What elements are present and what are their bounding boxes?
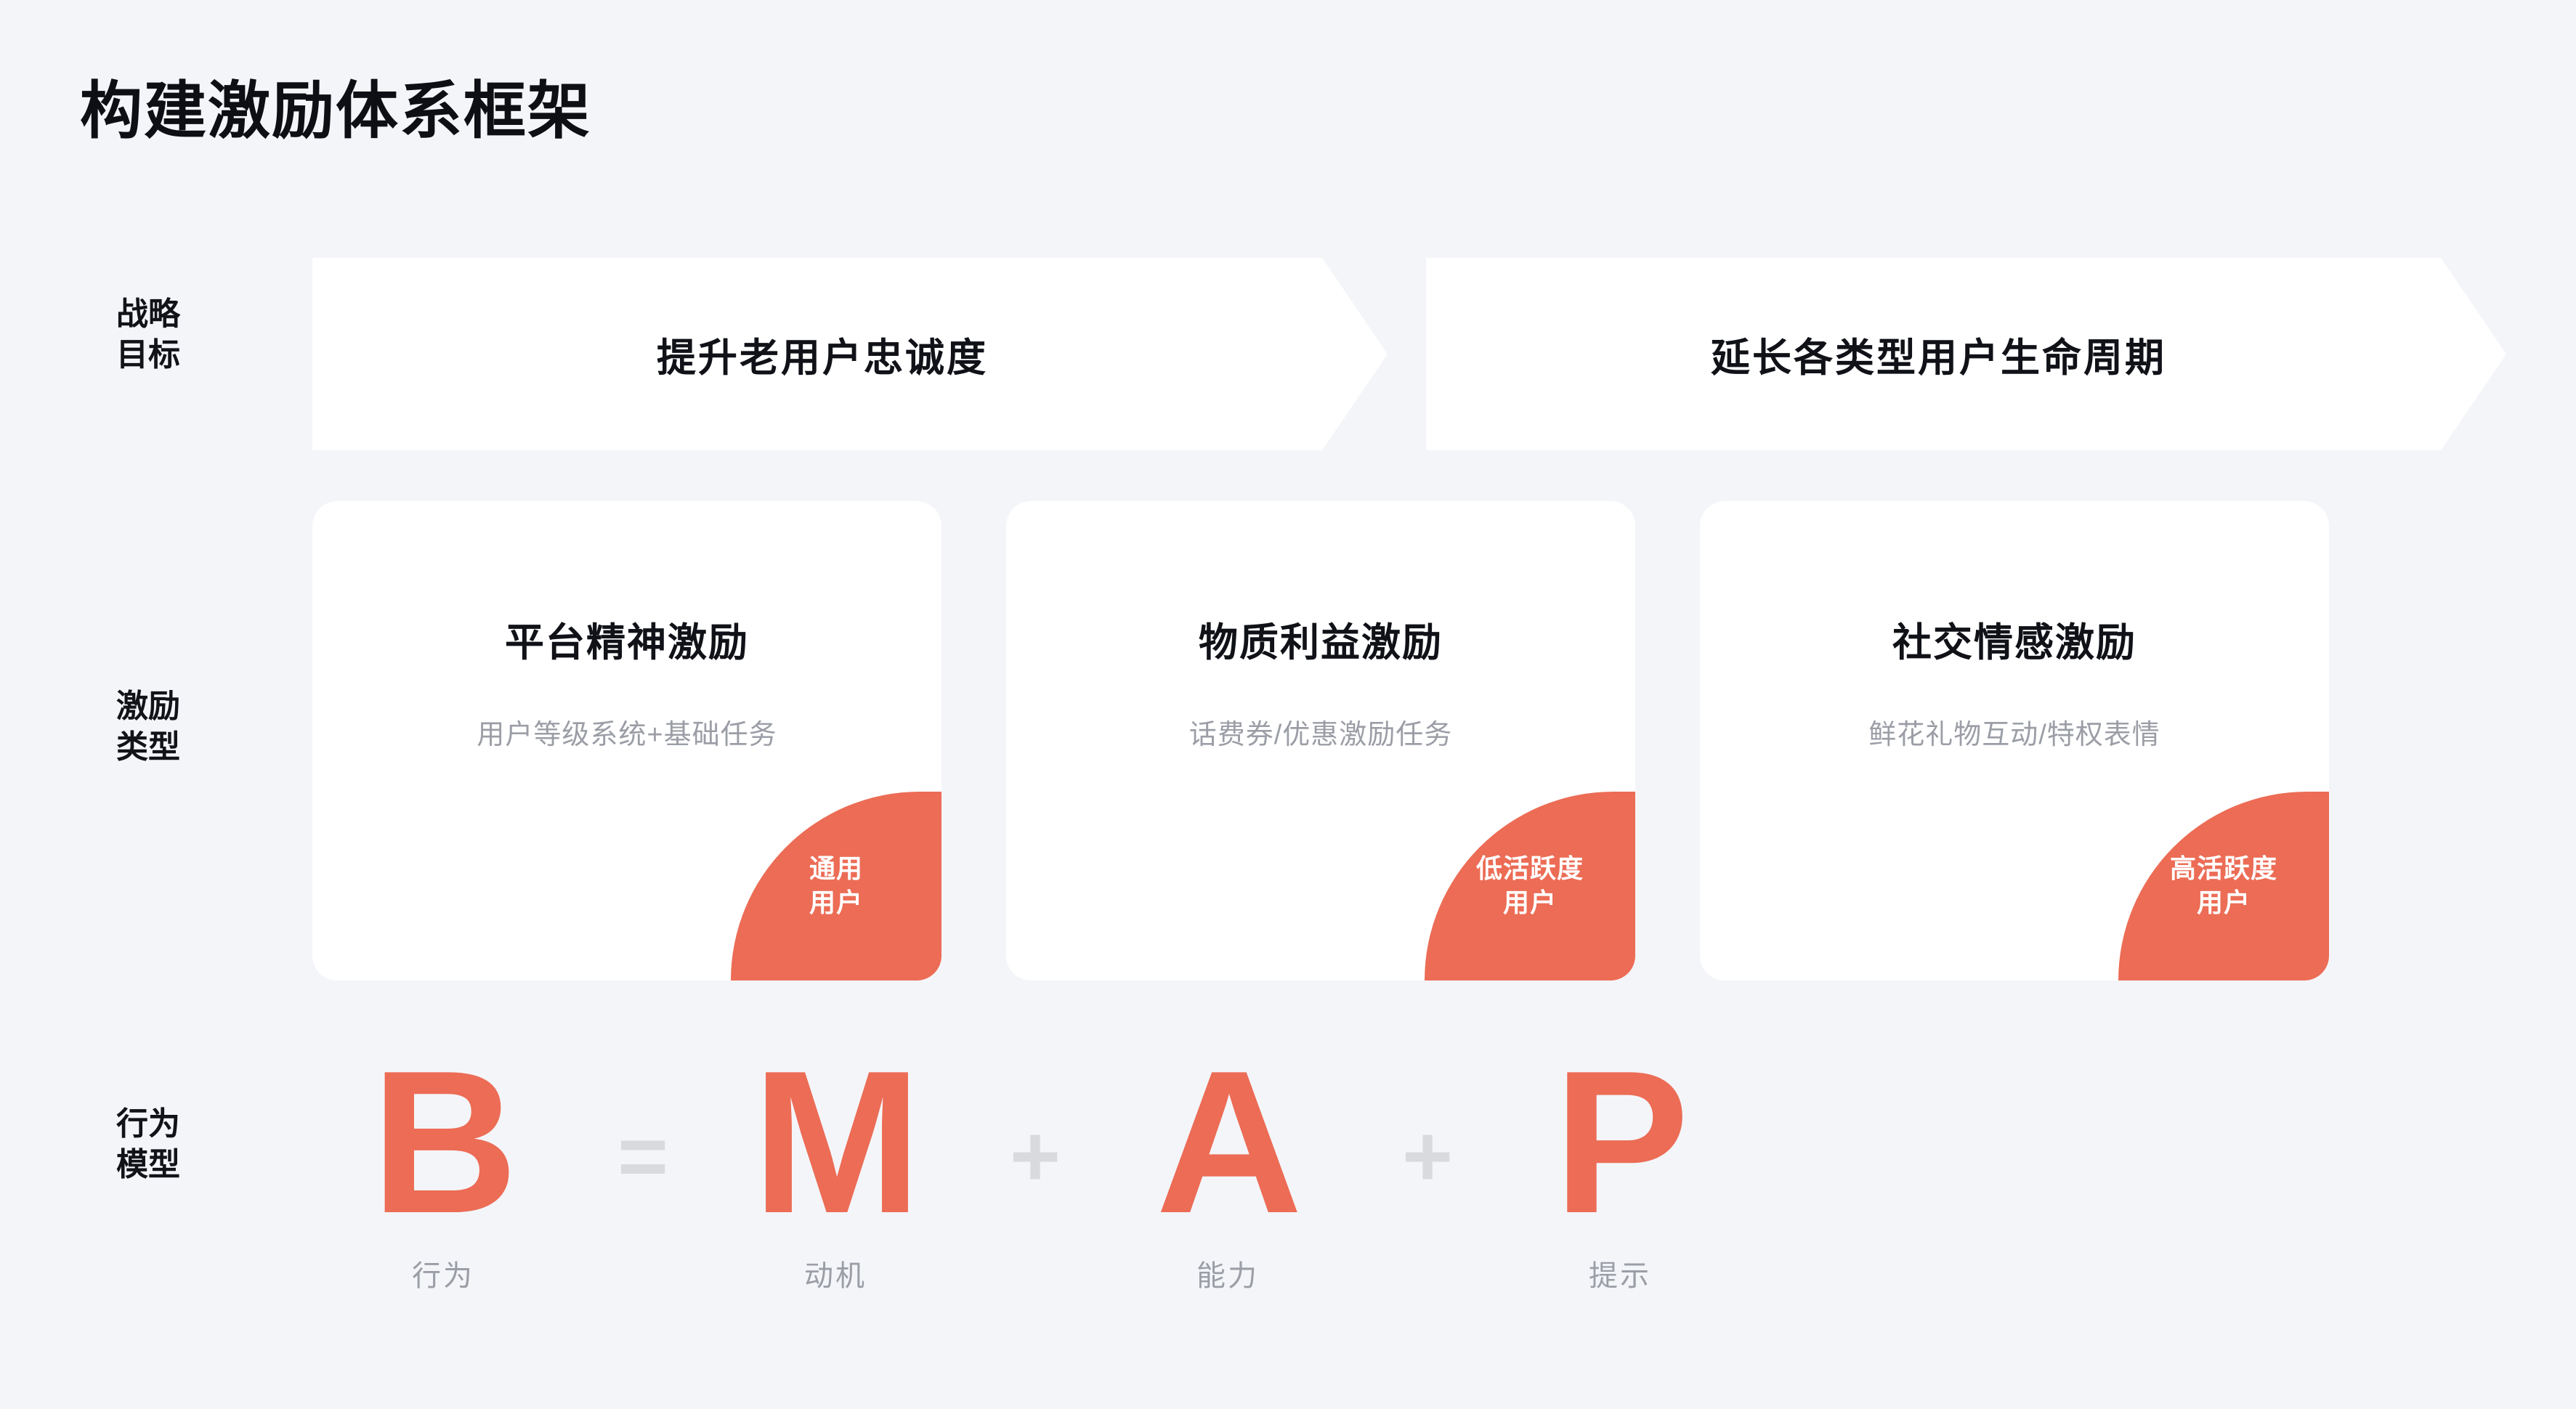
- incentive-card-subtitle: 话费券/优惠激励任务: [1006, 712, 1635, 752]
- row-label-behavior: 行为 模型: [116, 1104, 305, 1186]
- user-segment-badge-line-2: 用户: [809, 886, 863, 920]
- incentive-card-title: 物质利益激励: [1006, 610, 1635, 667]
- row-label-strategy: 战略 目标: [116, 294, 305, 376]
- user-segment-badge-line-1: 高活跃度: [2170, 852, 2277, 886]
- behavior-model-row: B 行为 = M 动机 + A 能力 + P 提示: [312, 1046, 2506, 1373]
- plus-operator-icon: +: [984, 1113, 1086, 1200]
- user-segment-badge: 通用 用户: [731, 792, 941, 980]
- behavior-model-letter: A: [1111, 1046, 1344, 1239]
- strategy-banner[interactable]: 延长各类型用户生命周期: [1426, 258, 2506, 450]
- user-segment-badge-line-1: 通用: [809, 852, 863, 886]
- incentive-type-row: 平台精神激励 用户等级系统+基础任务 通用 用户 物质利益激励 话费券/优惠激励…: [312, 501, 2506, 980]
- incentive-card[interactable]: 物质利益激励 话费券/优惠激励任务 低活跃度 用户: [1006, 501, 1635, 980]
- incentive-card[interactable]: 社交情感激励 鲜花礼物互动/特权表情 高活跃度 用户: [1700, 501, 2329, 980]
- incentive-card-title: 社交情感激励: [1700, 610, 2329, 667]
- behavior-model-caption: 提示: [1504, 1252, 1736, 1294]
- behavior-model-letter: P: [1504, 1046, 1736, 1239]
- user-segment-badge-line-2: 用户: [1503, 886, 1557, 920]
- user-segment-badge-line-1: 低活跃度: [1476, 852, 1584, 886]
- behavior-model-term: B 行为: [327, 1046, 559, 1294]
- behavior-model-letter: M: [719, 1046, 952, 1239]
- behavior-model-letter: B: [327, 1046, 559, 1239]
- incentive-card[interactable]: 平台精神激励 用户等级系统+基础任务 通用 用户: [312, 501, 941, 980]
- user-segment-badge: 高活跃度 用户: [2118, 792, 2329, 980]
- strategy-banner-label: 提升老用户忠诚度: [657, 325, 988, 383]
- behavior-model-term: M 动机: [719, 1046, 952, 1294]
- plus-operator-icon: +: [1377, 1113, 1478, 1200]
- behavior-model-term: P 提示: [1504, 1046, 1736, 1294]
- strategy-banner-label: 延长各类型用户生命周期: [1711, 325, 2166, 383]
- incentive-card-subtitle: 鲜花礼物互动/特权表情: [1700, 712, 2329, 752]
- behavior-model-caption: 行为: [327, 1252, 559, 1294]
- user-segment-badge: 低活跃度 用户: [1425, 792, 1635, 980]
- strategy-goal-row: 提升老用户忠诚度 延长各类型用户生命周期: [312, 258, 2506, 450]
- row-label-incentive: 激励 类型: [116, 686, 305, 768]
- page-title: 构建激励体系框架: [80, 60, 591, 150]
- incentive-card-subtitle: 用户等级系统+基础任务: [312, 712, 941, 752]
- strategy-banner[interactable]: 提升老用户忠诚度: [312, 258, 1388, 450]
- behavior-model-term: A 能力: [1111, 1046, 1344, 1294]
- behavior-model-caption: 能力: [1111, 1252, 1344, 1294]
- behavior-model-caption: 动机: [719, 1252, 952, 1294]
- equals-operator-icon: =: [592, 1113, 694, 1200]
- user-segment-badge-line-2: 用户: [2197, 886, 2251, 920]
- incentive-card-title: 平台精神激励: [312, 610, 941, 667]
